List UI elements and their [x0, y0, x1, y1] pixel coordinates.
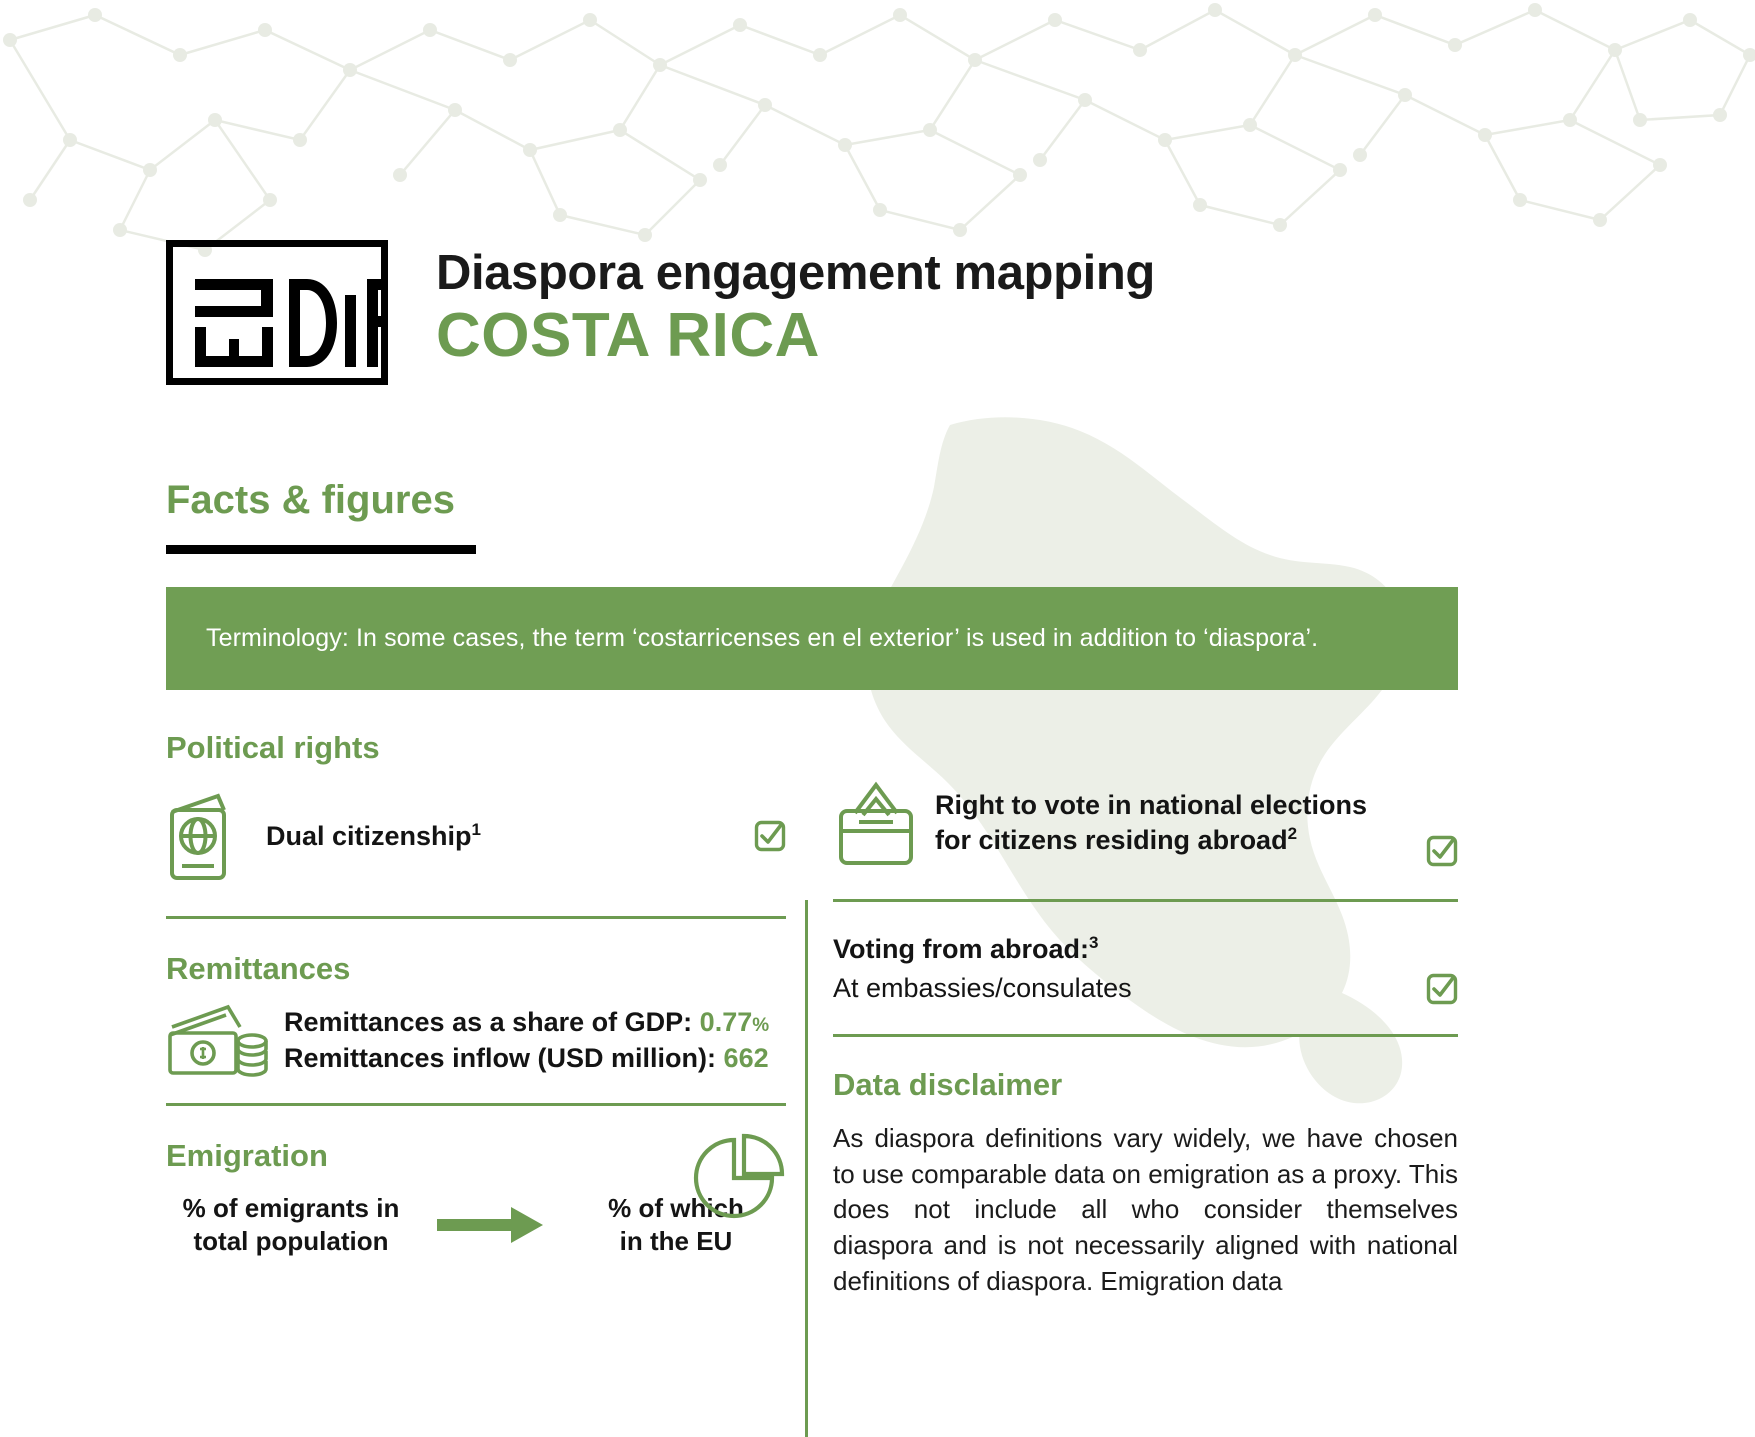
facts-figures-heading: Facts & figures [166, 478, 455, 523]
passport-globe-icon [166, 790, 234, 882]
remittances-gdp-line: Remittances as a share of GDP: 0.77% [284, 1005, 786, 1041]
dual-citizenship-label-cell: Dual citizenship1 [266, 819, 734, 854]
remittances-inflow-value: 662 [724, 1043, 769, 1073]
pie-chart-icon [690, 1132, 786, 1224]
money-cash-icon [166, 1001, 270, 1081]
right-to-vote-check-cell [1406, 835, 1458, 871]
right-to-vote-footnote: 2 [1288, 824, 1297, 843]
remittances-gdp-unit: % [752, 1015, 769, 1036]
remittances-gdp-label: Remittances as a share of GDP: [284, 1007, 692, 1037]
voting-from-abroad-footnote: 3 [1089, 933, 1098, 952]
emigration-left-line2: total population [166, 1225, 416, 1258]
divider-vote-abroad [833, 899, 1458, 902]
right-to-vote-label-cell: Right to vote in national elections for … [935, 788, 1406, 857]
ballot-box-icon-cell [833, 775, 935, 871]
voting-from-abroad-heading: Voting from abroad: [833, 934, 1089, 964]
remittances-values: Remittances as a share of GDP: 0.77% Rem… [284, 1005, 786, 1076]
checkbox-checked-icon [754, 820, 786, 852]
country-title: COSTA RICA [436, 301, 1155, 370]
remittances-inflow-label: Remittances inflow (USD million): [284, 1043, 716, 1073]
voting-option-check-cell [1406, 973, 1458, 1005]
emigration-left-line1: % of emigrants in [166, 1192, 416, 1225]
data-disclaimer-body: As diaspora definitions vary widely, we … [833, 1121, 1458, 1299]
pie-chart-icon-wrap [690, 1132, 786, 1229]
arrow-right-icon-cell [416, 1203, 566, 1247]
political-rights-heading: Political rights [166, 730, 786, 766]
remittances-gdp-value: 0.77 [700, 1007, 753, 1037]
remittances-inflow-line: Remittances inflow (USD million): 662 [284, 1041, 786, 1077]
eudif-logo [166, 240, 388, 385]
voting-from-abroad-heading-wrap: Voting from abroad:3 [833, 932, 1458, 967]
checkbox-checked-icon [1426, 973, 1458, 1005]
facts-figures-underline [166, 545, 476, 554]
money-icon-cell [166, 1001, 284, 1081]
page-title: Diaspora engagement mapping [436, 248, 1155, 299]
remittances-heading: Remittances [166, 951, 786, 987]
left-column: Political rights Dual citizenship1 [166, 730, 786, 1257]
divider-disclaimer [833, 1034, 1458, 1037]
column-divider [805, 900, 808, 1437]
right-column: Right to vote in national elections for … [833, 775, 1458, 1299]
terminology-text: Terminology: In some cases, the term ‘co… [166, 624, 1346, 653]
remittances-row: Remittances as a share of GDP: 0.77% Rem… [166, 1001, 786, 1081]
ballot-box-icon [833, 775, 919, 871]
passport-globe-icon-cell [166, 790, 266, 882]
molecule-network-decoration [0, 0, 1755, 260]
divider-political-remittances [166, 916, 786, 919]
terminology-banner: Terminology: In some cases, the term ‘co… [166, 587, 1458, 690]
right-to-vote-row: Right to vote in national elections for … [833, 775, 1458, 871]
right-to-vote-line1: Right to vote in national elections [935, 788, 1406, 823]
dual-citizenship-label: Dual citizenship [266, 821, 472, 851]
checkbox-checked-icon [1426, 835, 1458, 867]
emigration-left-label: % of emigrants in total population [166, 1192, 416, 1257]
dual-citizenship-row: Dual citizenship1 [166, 780, 786, 892]
dual-citizenship-footnote: 1 [472, 820, 481, 839]
voting-option-row: At embassies/consulates [833, 971, 1458, 1006]
infographic-page: Diaspora engagement mapping COSTA RICA F… [0, 0, 1755, 1437]
data-disclaimer-heading: Data disclaimer [833, 1067, 1458, 1103]
right-to-vote-line2: for citizens residing abroad [935, 825, 1288, 855]
document-header: Diaspora engagement mapping COSTA RICA [166, 240, 1155, 385]
arrow-right-icon [437, 1203, 545, 1247]
divider-remittances-emigration [166, 1103, 786, 1106]
voting-option-label: At embassies/consulates [833, 971, 1406, 1006]
emigration-right-line2: in the EU [566, 1225, 786, 1258]
dual-citizenship-check-cell [734, 820, 786, 852]
